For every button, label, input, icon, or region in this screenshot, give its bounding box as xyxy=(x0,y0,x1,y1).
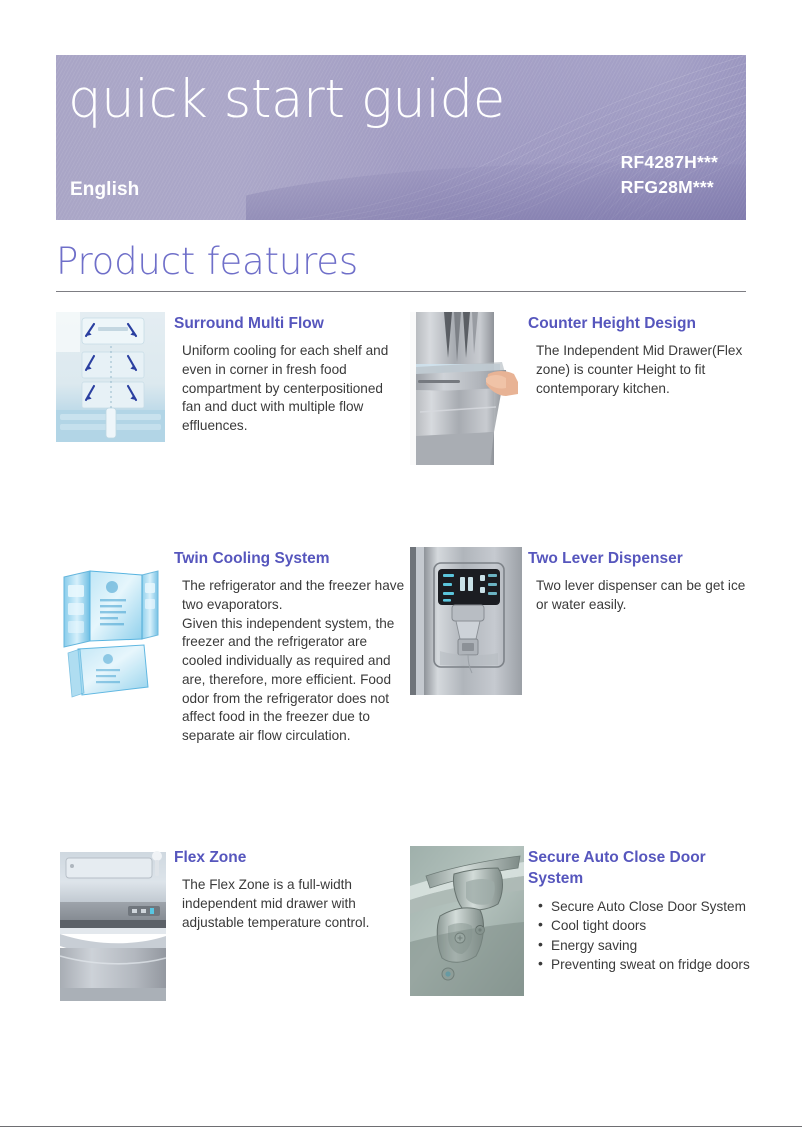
xray-blue-refrigerator-photo xyxy=(60,569,166,699)
list-item: Cool tight doors xyxy=(538,916,752,935)
feature-body: Two Lever Dispenser Two lever dispenser … xyxy=(528,548,752,615)
feature-heading: Secure Auto Close Door System xyxy=(528,847,752,889)
feature-heading: Surround Multi Flow xyxy=(174,313,404,334)
feature-heading: Two Lever Dispenser xyxy=(528,548,752,569)
feature-description: The Flex Zone is a full-width independen… xyxy=(174,876,404,932)
footer-divider xyxy=(0,1126,802,1127)
door-hinge-mechanism-photo xyxy=(410,846,524,996)
feature-body: Counter Height Design The Independent Mi… xyxy=(528,313,750,398)
feature-description: Two lever dispenser can be get ice or wa… xyxy=(528,577,752,615)
feature-heading: Counter Height Design xyxy=(528,313,750,334)
feature-body: Surround Multi Flow Uniform cooling for … xyxy=(174,313,404,436)
list-item: Preventing sweat on fridge doors xyxy=(538,955,752,974)
list-item: Energy saving xyxy=(538,936,752,955)
feature-description: The Independent Mid Drawer(Flex zone) is… xyxy=(528,342,750,398)
feature-heading: Flex Zone xyxy=(174,847,404,868)
document-page: quick start guide English RF4287H*** RFG… xyxy=(0,0,802,1134)
flex-zone-drawer-photo xyxy=(56,846,170,1001)
fridge-interior-airflow-photo xyxy=(56,312,165,442)
feature-body: Twin Cooling System The refrigerator and… xyxy=(174,548,406,746)
list-item: Secure Auto Close Door System xyxy=(538,897,752,916)
feature-body: Flex Zone The Flex Zone is a full-width … xyxy=(174,847,404,932)
feature-description: The refrigerator and the freezer have tw… xyxy=(174,577,406,746)
feature-grid: Surround Multi Flow Uniform cooling for … xyxy=(0,0,802,1134)
feature-bullet-list: Secure Auto Close Door System Cool tight… xyxy=(528,897,752,974)
feature-body: Secure Auto Close Door System Secure Aut… xyxy=(528,847,752,974)
hand-opening-mid-drawer-photo xyxy=(410,312,518,465)
feature-description: Uniform cooling for each shelf and even … xyxy=(174,342,404,436)
water-ice-dispenser-photo xyxy=(410,547,522,695)
feature-heading: Twin Cooling System xyxy=(174,548,406,569)
